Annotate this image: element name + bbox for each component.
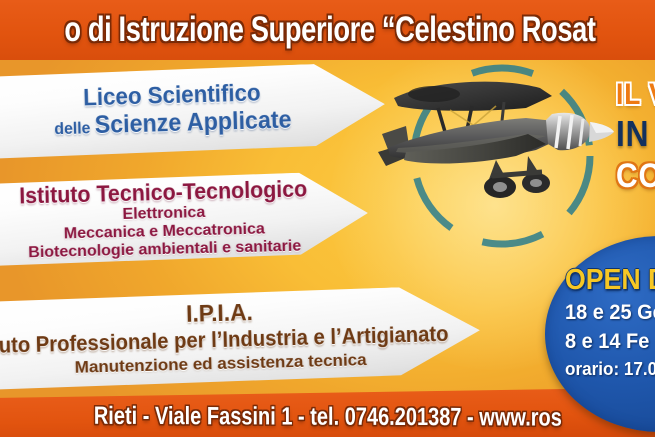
- banner-subtitle-prefix: delle: [54, 118, 95, 138]
- banner-subtitle: delle Scienze Applicate: [54, 105, 292, 143]
- slogan-block: IL V IN CON: [616, 78, 655, 196]
- open-day-date-1: 18 e 25 Ge: [565, 298, 655, 327]
- banner-title: Istituto Tecnico-Tecnologico: [19, 176, 308, 208]
- open-day-title: OPEN D: [565, 262, 655, 298]
- biplane-icon: [376, 56, 616, 206]
- slogan-line-1: IL V: [616, 78, 655, 112]
- open-day-date-2: 8 e 14 Fe: [565, 327, 655, 356]
- poster-canvas: Liceo Scientifico delle Scienze Applicat…: [0, 0, 655, 437]
- banner-liceo-scientifico[interactable]: Liceo Scientifico delle Scienze Applicat…: [0, 62, 386, 160]
- banner-content: Liceo Scientifico delle Scienze Applicat…: [0, 62, 386, 160]
- banner-course-item: Elettronica: [122, 203, 205, 223]
- banner-subtitle-main: Scienze Applicate: [94, 105, 292, 138]
- slogan-line-3: CON: [616, 156, 655, 196]
- page-title: o di Istruzione Superiore “Celestino Ros…: [57, 9, 603, 51]
- open-day-time: orario: 17.0: [565, 356, 655, 382]
- banner-istituto-tecnico[interactable]: Istituto Tecnico-Tecnologico Elettronica…: [0, 171, 369, 267]
- banner-content: Istituto Tecnico-Tecnologico Elettronica…: [0, 171, 369, 267]
- footer-bar: Rieti - Viale Fassini 1 - tel. 0746.2013…: [0, 387, 655, 437]
- slogan-line-2: IN: [616, 112, 655, 156]
- banner-heading: I.P.I.A.: [186, 300, 253, 328]
- banner-content: I.P.I.A. tuto Professionale per l’Indust…: [0, 285, 481, 391]
- contact-info: Rieti - Viale Fassini 1 - tel. 0746.2013…: [66, 401, 590, 433]
- header-bar: o di Istruzione Superiore “Celestino Ros…: [0, 0, 655, 60]
- banner-ipia[interactable]: I.P.I.A. tuto Professionale per l’Indust…: [0, 285, 481, 391]
- open-day-content: OPEN D 18 e 25 Ge 8 e 14 Fe orario: 17.0: [565, 262, 655, 382]
